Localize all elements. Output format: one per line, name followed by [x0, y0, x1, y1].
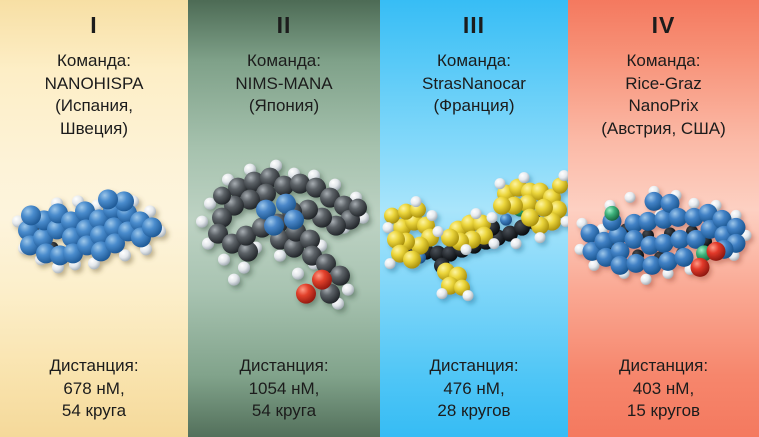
panel-numeral: IV [652, 14, 676, 37]
distance-info: Дистанция: 403 нМ, 15 кругов [615, 355, 712, 423]
molecule-body [12, 190, 166, 274]
panel-team-1: I Команда: NANOHISPA (Испания, Швеция) [0, 0, 188, 437]
rice-graz-molecule-svg [568, 140, 759, 355]
molecule-image-3 [380, 118, 568, 355]
molecule-image-4 [568, 140, 759, 355]
molecule-image-2 [188, 118, 380, 355]
carbon-atoms [18, 190, 162, 266]
distance-info: Дистанция: 678 нМ, 54 круга [45, 355, 142, 423]
nanocar-race-figure: I Команда: NANOHISPA (Испания, Швеция) [0, 0, 759, 437]
team-description: Команда: StrasNanocar (Франция) [416, 50, 532, 118]
panel-team-3: III Команда: StrasNanocar (Франция) [380, 0, 568, 437]
distance-info: Дистанция: 476 нМ, 28 кругов [425, 355, 522, 423]
team-description: Команда: NIMS-MANA (Япония) [229, 50, 338, 118]
panel-team-4: IV Команда: Rice-Graz NanoPrix (Австрия,… [568, 0, 759, 437]
nims-mana-molecule-svg [188, 118, 380, 355]
molecule-body [575, 186, 752, 285]
distance-info: Дистанция: 1054 нМ, 54 круга [235, 355, 332, 423]
panel-team-2: II Команда: NIMS-MANA (Япония) [188, 0, 380, 437]
molecule-body [196, 160, 369, 310]
team-description: Команда: NANOHISPA (Испания, Швеция) [39, 50, 150, 140]
panel-numeral: I [90, 14, 97, 37]
strasnanocar-molecule-svg [380, 118, 568, 355]
molecule-body [383, 170, 569, 301]
panel-numeral: II [277, 14, 292, 37]
panel-numeral: III [463, 14, 485, 37]
team-description: Команда: Rice-Graz NanoPrix (Австрия, СШ… [595, 50, 732, 140]
nanohispa-molecule-svg [0, 136, 188, 355]
molecule-image-1 [0, 136, 188, 355]
